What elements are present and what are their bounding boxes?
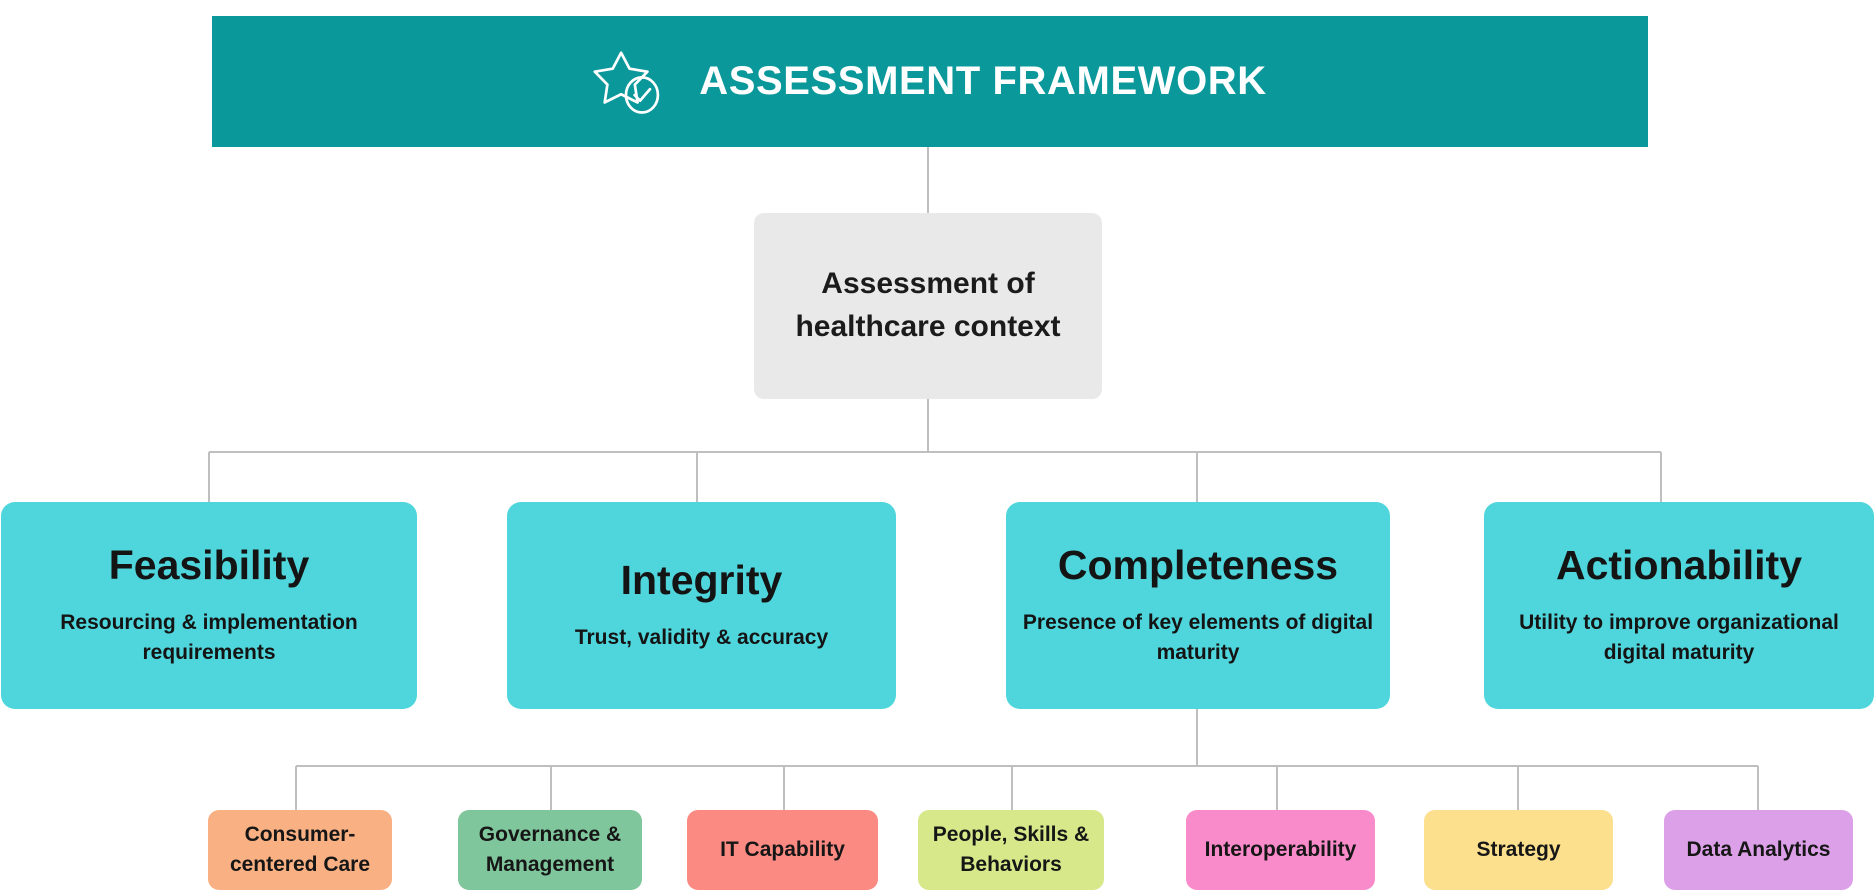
pillar-subtitle: Presence of key elements of digital matu… bbox=[1020, 608, 1376, 668]
pillar-integrity: Integrity Trust, validity & accuracy bbox=[507, 502, 896, 709]
domain-label: Consumer-centered Care bbox=[218, 820, 382, 880]
domain-label: People, Skills & Behaviors bbox=[928, 820, 1094, 880]
header-banner: ASSESSMENT FRAMEWORK bbox=[212, 16, 1648, 147]
domain-label: Data Analytics bbox=[1687, 835, 1831, 865]
pillar-title: Feasibility bbox=[109, 543, 310, 588]
pillar-completeness: Completeness Presence of key elements of… bbox=[1006, 502, 1390, 709]
domain-label: Interoperability bbox=[1205, 835, 1357, 865]
assessment-framework-diagram: ASSESSMENT FRAMEWORK Assessment of healt… bbox=[0, 0, 1875, 890]
header-title: ASSESSMENT FRAMEWORK bbox=[699, 59, 1267, 104]
domain-governance-management: Governance & Management bbox=[458, 810, 642, 890]
domain-label: IT Capability bbox=[720, 835, 845, 865]
pillar-feasibility: Feasibility Resourcing & implementation … bbox=[1, 502, 417, 709]
domain-consumer-centered-care: Consumer-centered Care bbox=[208, 810, 392, 890]
pillar-title: Integrity bbox=[621, 558, 783, 603]
domain-people-skills-behaviors: People, Skills & Behaviors bbox=[918, 810, 1104, 890]
pillar-title: Completeness bbox=[1058, 543, 1338, 588]
context-box: Assessment of healthcare context bbox=[754, 213, 1102, 399]
pillar-subtitle: Trust, validity & accuracy bbox=[575, 623, 828, 653]
domain-it-capability: IT Capability bbox=[687, 810, 878, 890]
domain-strategy: Strategy bbox=[1424, 810, 1613, 890]
pillar-title: Actionability bbox=[1556, 543, 1802, 588]
domain-interoperability: Interoperability bbox=[1186, 810, 1375, 890]
domain-label: Governance & Management bbox=[468, 820, 632, 880]
domain-data-analytics: Data Analytics bbox=[1664, 810, 1853, 890]
pillar-subtitle: Utility to improve organizational digita… bbox=[1498, 608, 1860, 668]
context-box-label: Assessment of healthcare context bbox=[772, 263, 1084, 348]
pillar-actionability: Actionability Utility to improve organiz… bbox=[1484, 502, 1874, 709]
domain-label: Strategy bbox=[1476, 835, 1560, 865]
star-check-icon bbox=[593, 46, 665, 118]
pillar-subtitle: Resourcing & implementation requirements bbox=[15, 608, 403, 668]
